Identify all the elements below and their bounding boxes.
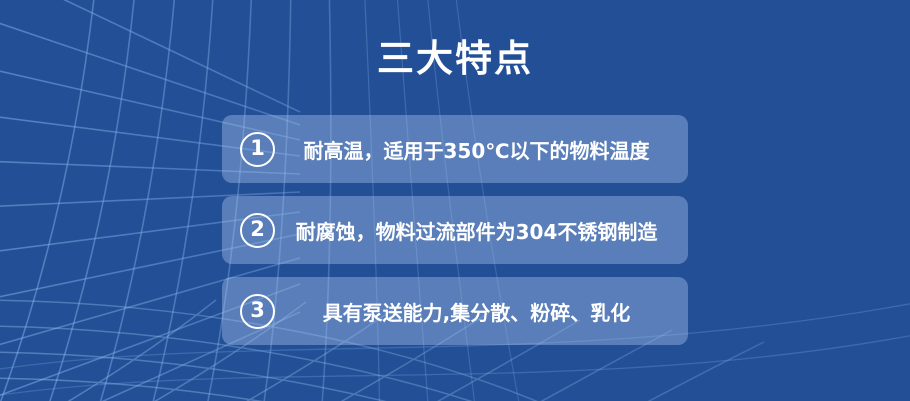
feature-row-3: 3 具有泵送能力,集分散、粉碎、乳化 [222, 277, 688, 345]
feature-row-1: 1 耐高温，适用于350℃以下的物料温度 [222, 115, 688, 183]
page-title: 三大特点 [0, 38, 910, 81]
feature-number-badge-1: 1 [240, 132, 275, 167]
feature-text-1: 耐高温，适用于350℃以下的物料温度 [275, 135, 688, 164]
feature-text-2: 耐腐蚀，物料过流部件为304不锈钢制造 [275, 216, 688, 245]
feature-row-2: 2 耐腐蚀，物料过流部件为304不锈钢制造 [222, 196, 688, 264]
feature-list: 1 耐高温，适用于350℃以下的物料温度 2 耐腐蚀，物料过流部件为304不锈钢… [222, 115, 688, 345]
feature-number-badge-2: 2 [240, 213, 275, 248]
feature-number-badge-3: 3 [240, 294, 275, 329]
feature-banner: 三大特点 1 耐高温，适用于350℃以下的物料温度 2 耐腐蚀，物料过流部件为3… [0, 0, 910, 401]
feature-text-3: 具有泵送能力,集分散、粉碎、乳化 [275, 297, 688, 326]
